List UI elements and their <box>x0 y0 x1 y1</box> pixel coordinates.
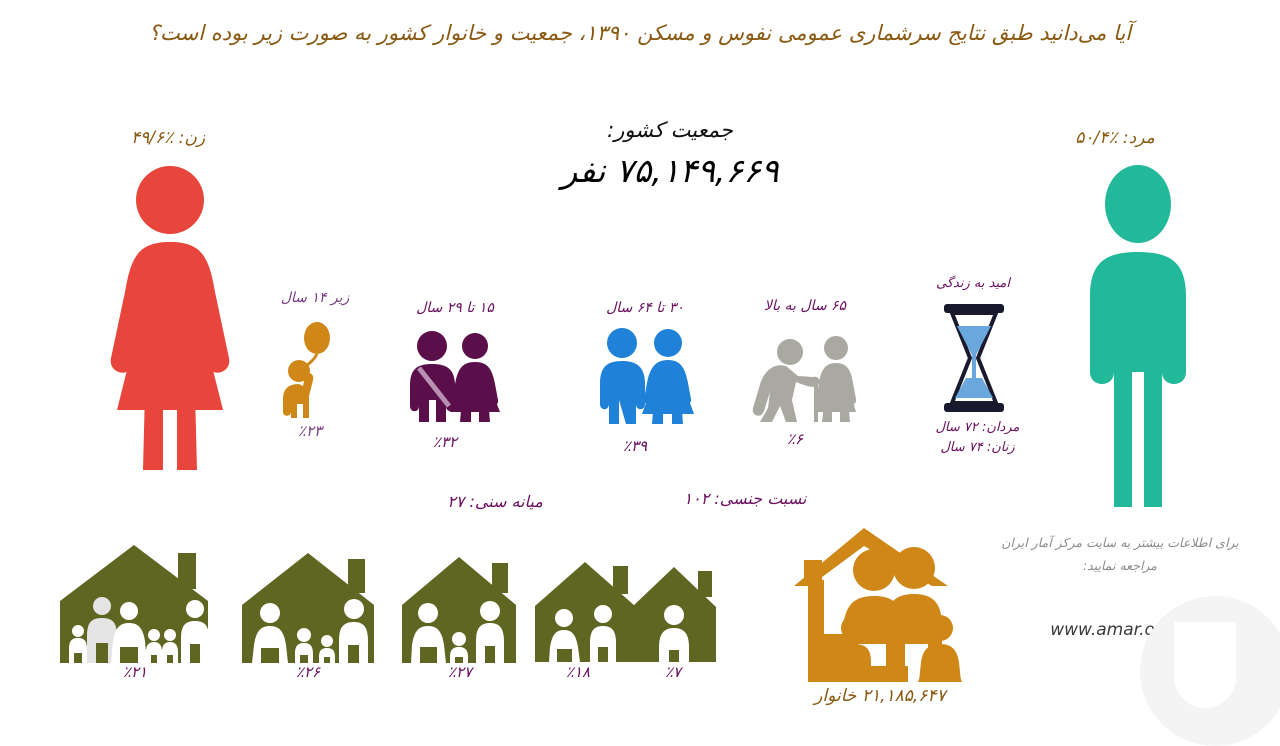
household-percentage: ٪۲۱ <box>85 663 185 681</box>
life-expectancy-title: امید به زندگی <box>898 276 1048 291</box>
life-expectancy-values: مردان: ۷۲ سال زنان: ۷۴ سال <box>905 418 1050 458</box>
life-expectancy-block: امید به زندگی <box>898 276 1048 291</box>
infographic-canvas: آیا می‌دانید طبق نتایج سرشماری عمومی نفو… <box>0 0 1280 720</box>
footer-line-1: برای اطلاعات بیشتر به سایت مرکز آمار ایر… <box>985 532 1255 555</box>
young-couple-icon <box>405 330 501 422</box>
age-group-65plus: ۶۵ سال به بالا <box>720 298 890 314</box>
footer-line-2: مراجعه نمایید: <box>985 555 1255 578</box>
age-group-title: ۱۵ تا ۲۹ سال <box>380 300 530 316</box>
household-size-5-icon <box>630 565 718 662</box>
female-figure-icon <box>95 160 245 480</box>
adult-couple-icon <box>595 328 695 424</box>
age-group-title: زیر ۱۴ سال <box>250 290 380 306</box>
household-family-icon <box>788 524 968 682</box>
age-group-15to29: ۱۵ تا ۲۹ سال <box>380 300 530 316</box>
household-size-4-icon <box>533 560 637 662</box>
life-expectancy-men: مردان: ۷۲ سال <box>905 418 1050 438</box>
median-age-stat: میانه سنی: ۲۷ <box>400 492 590 511</box>
age-group-percentage: ٪۶ <box>740 430 850 448</box>
age-group-30to64: ۳۰ تا ۶۴ سال <box>565 300 725 316</box>
watermark-logo <box>1140 596 1280 746</box>
sex-ratio-stat: نسبت جنسی: ۱۰۲ <box>645 489 845 508</box>
age-group-percentage: ٪۲۳ <box>255 422 365 440</box>
household-size-2-icon <box>240 551 376 663</box>
age-group-title: ۶۵ سال به بالا <box>720 298 890 314</box>
population-value: ۷۵,۱۴۹,۶۶۹ نفر <box>470 151 870 190</box>
male-figure-icon <box>1068 162 1208 507</box>
age-group-percentage: ٪۳۲ <box>390 433 500 451</box>
life-expectancy-women: زنان: ۷۴ سال <box>905 438 1050 458</box>
household-size-1-icon <box>58 543 210 663</box>
male-percentage-label: مرد: ٪۵۰/۴ <box>1025 128 1205 148</box>
household-percentage: ٪۷ <box>628 663 718 681</box>
household-count-label: ۲۱,۱۸۵,۶۴۷ خانوار <box>770 686 990 706</box>
age-group-percentage: ٪۳۹ <box>575 437 695 455</box>
household-percentage: ٪۲۷ <box>410 663 510 681</box>
footer-note: برای اطلاعات بیشتر به سایت مرکز آمار ایر… <box>985 532 1255 577</box>
age-group-title: ۳۰ تا ۶۴ سال <box>565 300 725 316</box>
child-balloon-icon <box>275 318 345 418</box>
hourglass-icon <box>938 302 1010 414</box>
household-size-3-icon <box>400 555 518 663</box>
elderly-couple-icon <box>748 330 856 422</box>
age-group-under14: زیر ۱۴ سال <box>250 290 380 306</box>
household-percentage: ٪۱۸ <box>528 663 628 681</box>
population-title: جمعیت کشور: <box>470 118 870 142</box>
population-block: جمعیت کشور: ۷۵,۱۴۹,۶۶۹ نفر <box>470 118 870 190</box>
household-percentage: ٪۲۶ <box>258 663 358 681</box>
page-title: آیا می‌دانید طبق نتایج سرشماری عمومی نفو… <box>40 18 1240 48</box>
female-percentage-label: زن: ٪۴۹/۶ <box>78 128 258 148</box>
